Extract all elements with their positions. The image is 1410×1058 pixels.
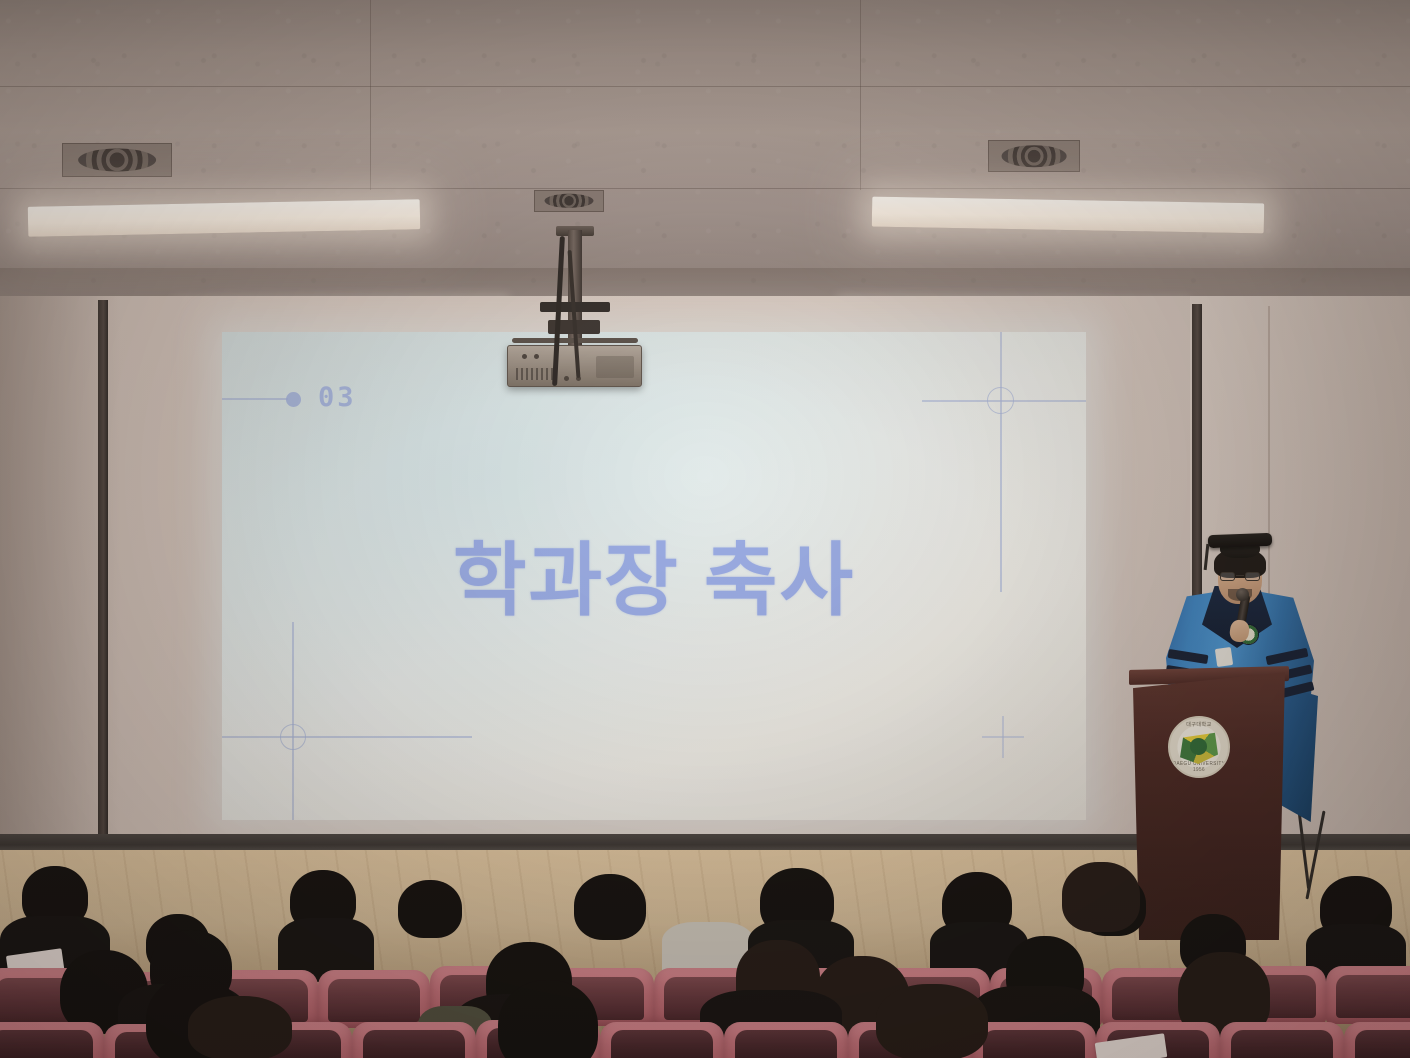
audience-area — [0, 856, 1410, 1058]
audience-head — [574, 874, 646, 940]
doctoral-tam-board — [1208, 533, 1272, 548]
screen-track-left — [98, 300, 108, 840]
slide-title: 학과장 축사 — [222, 516, 1086, 632]
auditorium-seat — [1326, 966, 1410, 1024]
auditorium-seat — [972, 1022, 1096, 1058]
university-seal: 대구대학교 DAEGU UNIVERSITY 1956 — [1168, 716, 1230, 778]
auditorium-seat — [724, 1022, 848, 1058]
projector-panel — [596, 356, 634, 378]
auditorium-photo: 03 학과장 축사 — [0, 0, 1410, 1058]
seal-top-text: 대구대학교 — [1170, 721, 1228, 728]
audience-head — [498, 980, 598, 1058]
projector-vent — [516, 368, 554, 380]
air-diffuser-left — [62, 143, 172, 177]
ceiling-beam — [0, 268, 1410, 298]
audience-head — [876, 984, 988, 1058]
tam-tassel — [1204, 544, 1210, 570]
auditorium-seat — [1344, 1022, 1410, 1058]
auditorium-seat — [352, 1022, 476, 1058]
auditorium-seat — [600, 1022, 724, 1058]
auditorium-seat — [1220, 1022, 1344, 1058]
audience-head — [188, 996, 292, 1058]
air-diffuser-right — [988, 140, 1080, 172]
ceiling-texture — [0, 0, 1410, 300]
audience-head — [1062, 862, 1140, 932]
shirt-cuff — [1215, 647, 1233, 667]
auditorium-seat — [318, 970, 430, 1028]
auditorium-seat — [0, 1022, 104, 1058]
slide-section-number: 03 — [318, 382, 357, 413]
air-diffuser-center — [534, 190, 604, 212]
ceiling — [0, 0, 1410, 300]
eyeglasses-icon — [1220, 572, 1260, 581]
audience-head — [398, 880, 462, 938]
